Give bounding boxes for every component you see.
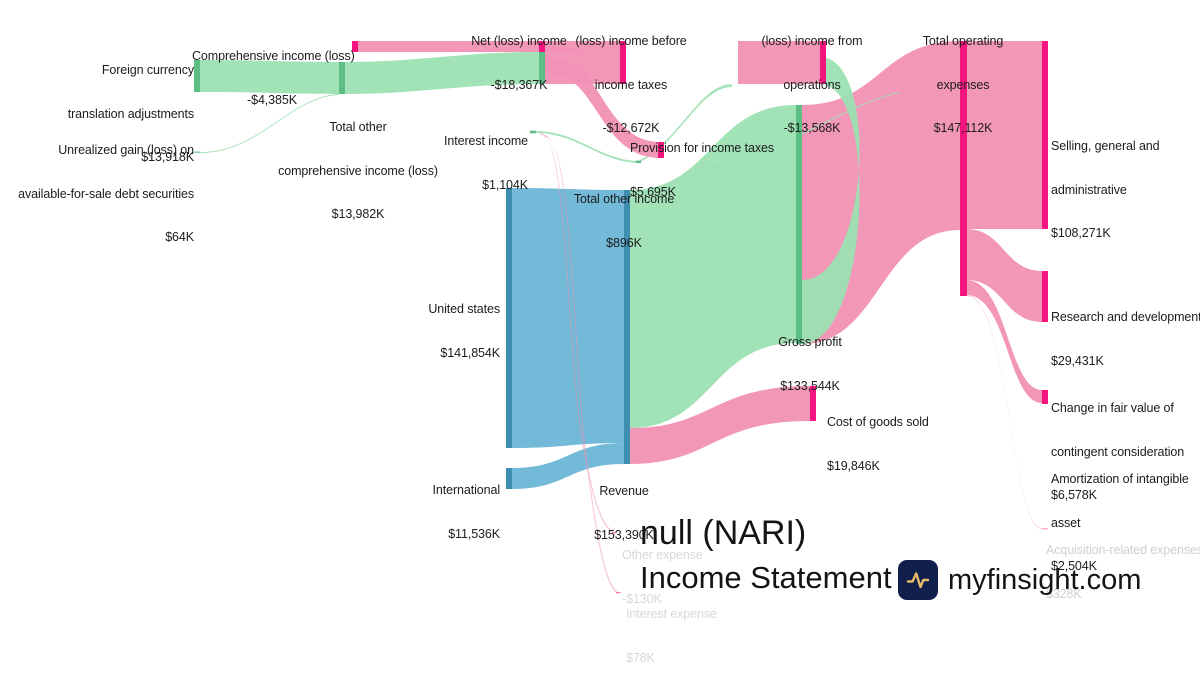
label-income-from-operations-line2: operations bbox=[750, 78, 874, 93]
label-revenue-line1: Revenue bbox=[566, 484, 682, 499]
node-research-development[interactable] bbox=[1042, 271, 1048, 322]
node-international[interactable] bbox=[506, 468, 512, 489]
label-comprehensive-income: Comprehensive income (loss) -$4,385K bbox=[192, 20, 352, 122]
node-interest-income[interactable] bbox=[530, 131, 536, 134]
label-united-states: United states $141,854K bbox=[370, 273, 500, 375]
label-selling-general-admin-line1: Selling, general and bbox=[1051, 139, 1199, 154]
label-income-from-operations-line1: (loss) income from bbox=[750, 34, 874, 49]
myfinsight-logo-icon bbox=[898, 560, 938, 600]
label-total-oci-value: $13,982K bbox=[278, 207, 438, 222]
label-international-value: $11,536K bbox=[370, 527, 500, 542]
footer: null (NARI) Income Statement myfinsight.… bbox=[640, 508, 1200, 618]
label-united-states-line1: United states bbox=[370, 302, 500, 317]
label-interest-income-line1: Interest income bbox=[398, 134, 528, 149]
label-total-other-income-line1: Total other income bbox=[556, 192, 692, 207]
label-selling-general-admin: Selling, general and administrative $108… bbox=[1051, 110, 1199, 255]
label-total-operating-expenses-line1: Total operating bbox=[903, 34, 1023, 49]
label-total-other-income-value: $896K bbox=[556, 236, 692, 251]
node-united-states[interactable] bbox=[506, 188, 512, 448]
label-comprehensive-income-value: -$4,385K bbox=[192, 93, 352, 108]
node-interest-expense[interactable] bbox=[616, 592, 621, 593]
label-interest-expense-value: $78K bbox=[626, 651, 766, 666]
label-unrealized-gain-value: $64K bbox=[10, 230, 194, 245]
label-unrealized-gain: Unrealized gain (loss) on available-for-… bbox=[10, 114, 194, 259]
node-amortization-intangible[interactable] bbox=[1042, 399, 1048, 404]
label-total-operating-expenses-line2: expenses bbox=[903, 78, 1023, 93]
label-net-loss-income: Net (loss) income -$18,367K bbox=[461, 5, 577, 107]
label-amortization-intangible-line1: Amortization of intangible bbox=[1051, 472, 1200, 487]
label-international: International $11,536K bbox=[370, 454, 500, 556]
label-research-development-line1: Research and development bbox=[1051, 310, 1200, 325]
label-international-line1: International bbox=[370, 483, 500, 498]
label-income-before-taxes-line2: income taxes bbox=[571, 78, 691, 93]
label-net-loss-income-value: -$18,367K bbox=[461, 78, 577, 93]
label-gross-profit-line1: Gross profit bbox=[752, 335, 868, 350]
label-selling-general-admin-line2: administrative bbox=[1051, 183, 1199, 198]
label-provision-taxes-line1: Provision for income taxes bbox=[630, 141, 820, 156]
sankey-diagram-canvas: Foreign currency translation adjustments… bbox=[0, 0, 1200, 630]
label-total-operating-expenses: Total operating expenses $147,112K bbox=[903, 5, 1023, 150]
label-interest-income-value: $1,104K bbox=[398, 178, 528, 193]
label-cost-of-goods-sold-value: $19,846K bbox=[827, 459, 987, 474]
brand-text: myfinsight.com bbox=[948, 564, 1141, 597]
label-total-operating-expenses-value: $147,112K bbox=[903, 121, 1023, 136]
label-cost-of-goods-sold: Cost of goods sold $19,846K bbox=[827, 386, 987, 488]
link-toe-to-research-development bbox=[966, 229, 1042, 322]
node-unrealized-gain[interactable] bbox=[194, 152, 200, 153]
company-title: null (NARI) bbox=[640, 514, 806, 553]
label-selling-general-admin-value: $108,271K bbox=[1051, 226, 1199, 241]
label-cost-of-goods-sold-line1: Cost of goods sold bbox=[827, 415, 987, 430]
label-united-states-value: $141,854K bbox=[370, 346, 500, 361]
brand-row[interactable]: myfinsight.com bbox=[898, 560, 1141, 600]
label-comprehensive-income-line1: Comprehensive income (loss) bbox=[192, 49, 352, 64]
label-interest-income: Interest income $1,104K bbox=[398, 105, 528, 207]
label-unrealized-gain-line2: available-for-sale debt securities bbox=[10, 187, 194, 202]
node-selling-general-admin[interactable] bbox=[1042, 41, 1048, 229]
label-total-other-income: Total other income $896K bbox=[556, 163, 692, 265]
statement-title: Income Statement bbox=[640, 560, 892, 596]
label-foreign-currency-line1: Foreign currency bbox=[30, 63, 194, 78]
label-net-loss-income-line1: Net (loss) income bbox=[461, 34, 577, 49]
label-income-before-taxes-line1: (loss) income before bbox=[571, 34, 691, 49]
label-unrealized-gain-line1: Unrealized gain (loss) on bbox=[10, 143, 194, 158]
